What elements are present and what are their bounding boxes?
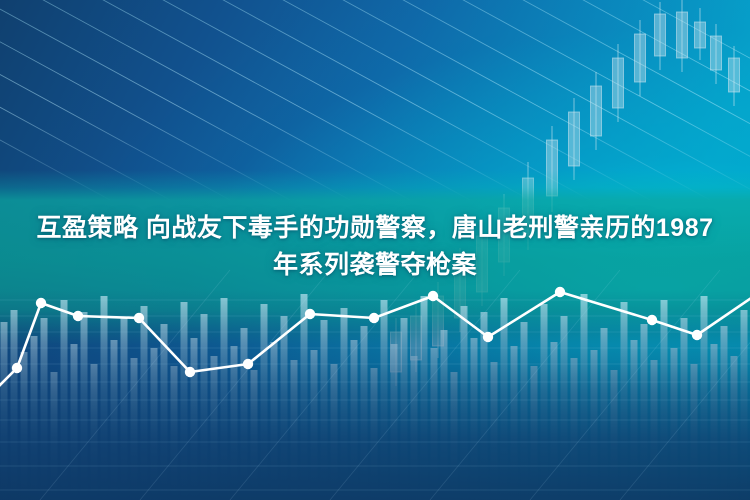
banner-image: 互盈策略 向战友下毒手的功勋警察，唐山老刑警亲历的1987 年系列袭警夺枪案	[0, 0, 750, 500]
title-line-2: 年系列袭警夺枪案	[14, 247, 736, 284]
banner-title: 互盈策略 向战友下毒手的功勋警察，唐山老刑警亲历的1987 年系列袭警夺枪案	[0, 210, 750, 284]
title-line-1: 互盈策略 向战友下毒手的功勋警察，唐山老刑警亲历的1987	[14, 210, 736, 247]
